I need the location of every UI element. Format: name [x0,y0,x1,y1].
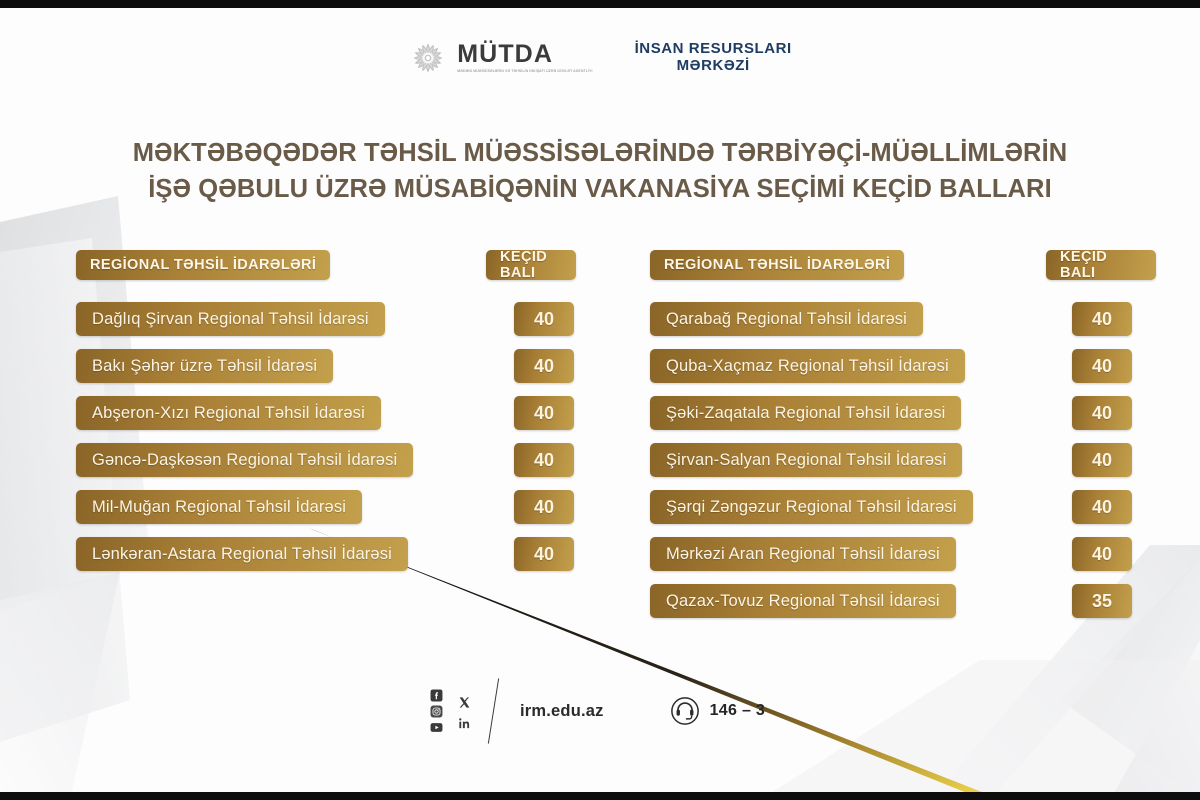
mutda-wordmark: MÜTDA [457,42,592,67]
table-row: Quba-Xaçmaz Regional Təhsil İdarəsi40 [650,349,1156,383]
row-score-badge: 40 [1072,349,1132,383]
row-office-name: Qarabağ Regional Təhsil İdarəsi [650,302,923,336]
table-left-rows: Dağlıq Şirvan Regional Təhsil İdarəsi40B… [76,302,576,571]
header-logos: MÜTDA MƏDƏNİ MÜƏSSİSƏLƏRİN VƏ TƏHSİLİN İ… [0,38,1200,78]
irm-line-1: İNSAN RESURSLARI [635,41,792,58]
row-office-name: Qazax-Tovuz Regional Təhsil İdarəsi [650,584,956,618]
page-title: MƏKTƏBƏQƏDƏR TƏHSİL MÜƏSSİSƏLƏRİNDƏ TƏRB… [0,135,1200,207]
row-office-name: Quba-Xaçmaz Regional Təhsil İdarəsi [650,349,965,383]
table-left-header-row: REGİONAL TƏHSİL İDARƏLƏRİ KEÇİD BALI [76,250,576,280]
headset-icon [670,696,700,726]
header-regional-offices-left: REGİONAL TƏHSİL İDARƏLƏRİ [76,250,330,280]
row-office-name: Mərkəzi Aran Regional Təhsil İdarəsi [650,537,956,571]
irm-logo: İNSAN RESURSLARI MƏRKƏZİ [635,41,792,75]
linkedin-icon[interactable] [458,717,471,730]
table-row: Lənkəran-Astara Regional Təhsil İdarəsi4… [76,537,576,571]
table-row: Şərqi Zəngəzur Regional Təhsil İdarəsi40 [650,490,1156,524]
footer-divider [488,678,499,743]
x-twitter-icon[interactable] [458,696,471,709]
table-row: Şirvan-Salyan Regional Təhsil İdarəsi40 [650,443,1156,477]
table-row: Mərkəzi Aran Regional Təhsil İdarəsi40 [650,537,1156,571]
row-office-name: Şərqi Zəngəzur Regional Təhsil İdarəsi [650,490,973,524]
row-score-badge: 40 [1072,396,1132,430]
row-score-badge: 40 [514,396,574,430]
table-right-rows: Qarabağ Regional Təhsil İdarəsi40Quba-Xa… [650,302,1156,618]
youtube-icon[interactable] [430,721,443,734]
facebook-icon[interactable] [430,689,443,702]
website-url[interactable]: irm.edu.az [520,702,604,721]
table-left-column: REGİONAL TƏHSİL İDARƏLƏRİ KEÇİD BALI Dağ… [76,250,576,584]
social-links [430,689,471,734]
table-row: Qarabağ Regional Təhsil İdarəsi40 [650,302,1156,336]
row-score-badge: 40 [514,490,574,524]
row-office-name: Şəki-Zaqatala Regional Təhsil İdarəsi [650,396,961,430]
row-score-badge: 40 [1072,443,1132,477]
row-score-badge: 40 [514,349,574,383]
row-score-badge: 40 [1072,490,1132,524]
mutda-subtitle: MƏDƏNİ MÜƏSSİSƏLƏRİN VƏ TƏHSİLİN İNKİŞAF… [457,69,592,74]
table-row: Mil-Muğan Regional Təhsil İdarəsi40 [76,490,576,524]
row-office-name: Mil-Muğan Regional Təhsil İdarəsi [76,490,362,524]
page-title-line-2: İŞƏ QƏBULU ÜZRƏ MÜSABİQƏNİN VAKANASİYA S… [60,171,1140,207]
row-score-badge: 40 [1072,537,1132,571]
header-regional-offices-right: REGİONAL TƏHSİL İDARƏLƏRİ [650,250,904,280]
row-score-badge: 35 [1072,584,1132,618]
row-office-name: Dağlıq Şirvan Regional Təhsil İdarəsi [76,302,385,336]
table-row: Şəki-Zaqatala Regional Təhsil İdarəsi40 [650,396,1156,430]
page-title-line-1: MƏKTƏBƏQƏDƏR TƏHSİL MÜƏSSİSƏLƏRİNDƏ TƏRB… [60,135,1140,171]
table-row: Dağlıq Şirvan Regional Təhsil İdarəsi40 [76,302,576,336]
hotline-number: 146 – 3 [710,702,765,720]
table-row: Gəncə-Daşkəsən Regional Təhsil İdarəsi40 [76,443,576,477]
mandala-icon [408,38,448,78]
row-score-badge: 40 [514,443,574,477]
footer: irm.edu.az 146 – 3 [430,678,765,744]
instagram-icon[interactable] [430,705,443,718]
header-passing-score-right: KEÇİD BALI [1046,250,1156,280]
social-column-a [430,689,443,734]
table-row: Bakı Şəhər üzrə Təhsil İdarəsi40 [76,349,576,383]
infographic-canvas: MÜTDA MƏDƏNİ MÜƏSSİSƏLƏRİN VƏ TƏHSİLİN İ… [0,0,1200,800]
row-score-badge: 40 [1072,302,1132,336]
social-column-b [458,696,471,730]
mutda-logo: MÜTDA MƏDƏNİ MÜƏSSİSƏLƏRİN VƏ TƏHSİLİN İ… [408,38,592,78]
table-right-header-row: REGİONAL TƏHSİL İDARƏLƏRİ KEÇİD BALI [650,250,1156,280]
row-office-name: Bakı Şəhər üzrə Təhsil İdarəsi [76,349,333,383]
irm-line-2: MƏRKƏZİ [635,58,792,75]
row-score-badge: 40 [514,302,574,336]
row-office-name: Abşeron-Xızı Regional Təhsil İdarəsi [76,396,381,430]
letterbox-bottom-bar [0,792,1200,800]
letterbox-top-bar [0,0,1200,8]
row-score-badge: 40 [514,537,574,571]
table-row: Abşeron-Xızı Regional Təhsil İdarəsi40 [76,396,576,430]
hotline: 146 – 3 [670,696,765,726]
header-passing-score-left: KEÇİD BALI [486,250,576,280]
row-office-name: Gəncə-Daşkəsən Regional Təhsil İdarəsi [76,443,413,477]
table-right-column: REGİONAL TƏHSİL İDARƏLƏRİ KEÇİD BALI Qar… [650,250,1156,631]
row-office-name: Lənkəran-Astara Regional Təhsil İdarəsi [76,537,408,571]
row-office-name: Şirvan-Salyan Regional Təhsil İdarəsi [650,443,962,477]
table-row: Qazax-Tovuz Regional Təhsil İdarəsi35 [650,584,1156,618]
